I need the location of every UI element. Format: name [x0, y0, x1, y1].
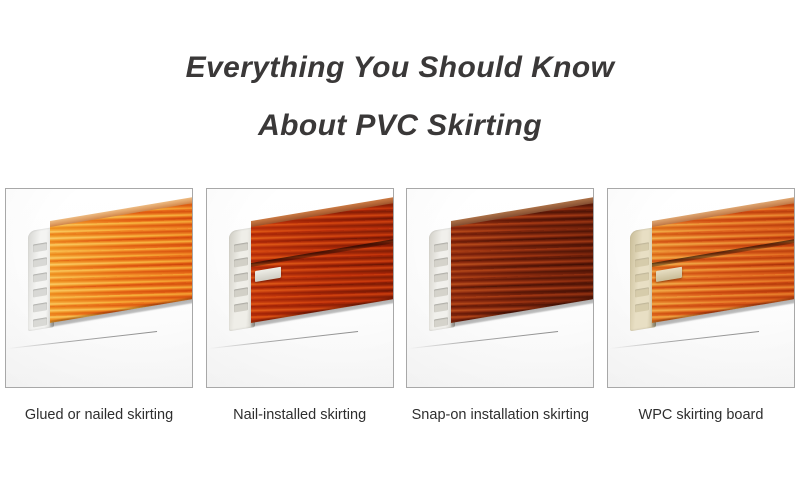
- gallery-item[interactable]: WPC skirting board: [606, 188, 796, 424]
- profile-rib: [434, 272, 448, 282]
- gallery-item[interactable]: Glued or nailed skirting: [4, 188, 194, 424]
- skirting-board-render: [20, 217, 193, 367]
- skirting-board-render: [421, 217, 594, 367]
- profile-rib: [33, 242, 47, 252]
- skirting-photo-1: [6, 189, 192, 387]
- skirting-board-render: [221, 217, 394, 367]
- profile-rib: [635, 242, 649, 252]
- profile-rib: [434, 287, 448, 297]
- profile-rib: [234, 257, 248, 267]
- product-image-frame[interactable]: [206, 188, 394, 388]
- profile-rib: [635, 287, 649, 297]
- gallery-item[interactable]: Snap-on installation skirting: [405, 188, 595, 424]
- title-line-2: About PVC Skirting: [0, 104, 800, 148]
- profile-rib: [434, 242, 448, 252]
- skirting-photo-2: [207, 189, 393, 387]
- profile-rib: [33, 287, 47, 297]
- profile-rib: [234, 287, 248, 297]
- profile-rib: [33, 272, 47, 282]
- profile-rib: [635, 257, 649, 267]
- gallery-item[interactable]: Nail-installed skirting: [205, 188, 395, 424]
- gallery-item-caption: Glued or nailed skirting: [25, 406, 173, 424]
- profile-rib: [635, 272, 649, 282]
- profile-rib: [33, 257, 47, 267]
- gallery-item-caption: WPC skirting board: [639, 406, 764, 424]
- profile-rib: [234, 302, 248, 312]
- profile-rib: [33, 317, 47, 327]
- profile-rib: [434, 257, 448, 267]
- product-image-frame[interactable]: [5, 188, 193, 388]
- profile-rib: [434, 302, 448, 312]
- skirting-board-render: [622, 217, 795, 367]
- profile-rib: [434, 317, 448, 327]
- skirting-photo-4: [608, 189, 794, 387]
- skirting-type-gallery: Glued or nailed skirting Nail-instal: [4, 188, 796, 424]
- product-image-frame[interactable]: [607, 188, 795, 388]
- product-image-frame[interactable]: [406, 188, 594, 388]
- title-line-1: Everything You Should Know: [0, 46, 800, 90]
- gallery-item-caption: Snap-on installation skirting: [412, 406, 589, 424]
- gallery-item-caption: Nail-installed skirting: [233, 406, 366, 424]
- profile-rib: [33, 302, 47, 312]
- profile-rib: [234, 272, 248, 282]
- skirting-photo-3: [407, 189, 593, 387]
- profile-rib: [234, 242, 248, 252]
- profile-rib: [635, 302, 649, 312]
- page-title: Everything You Should Know About PVC Ski…: [0, 0, 800, 148]
